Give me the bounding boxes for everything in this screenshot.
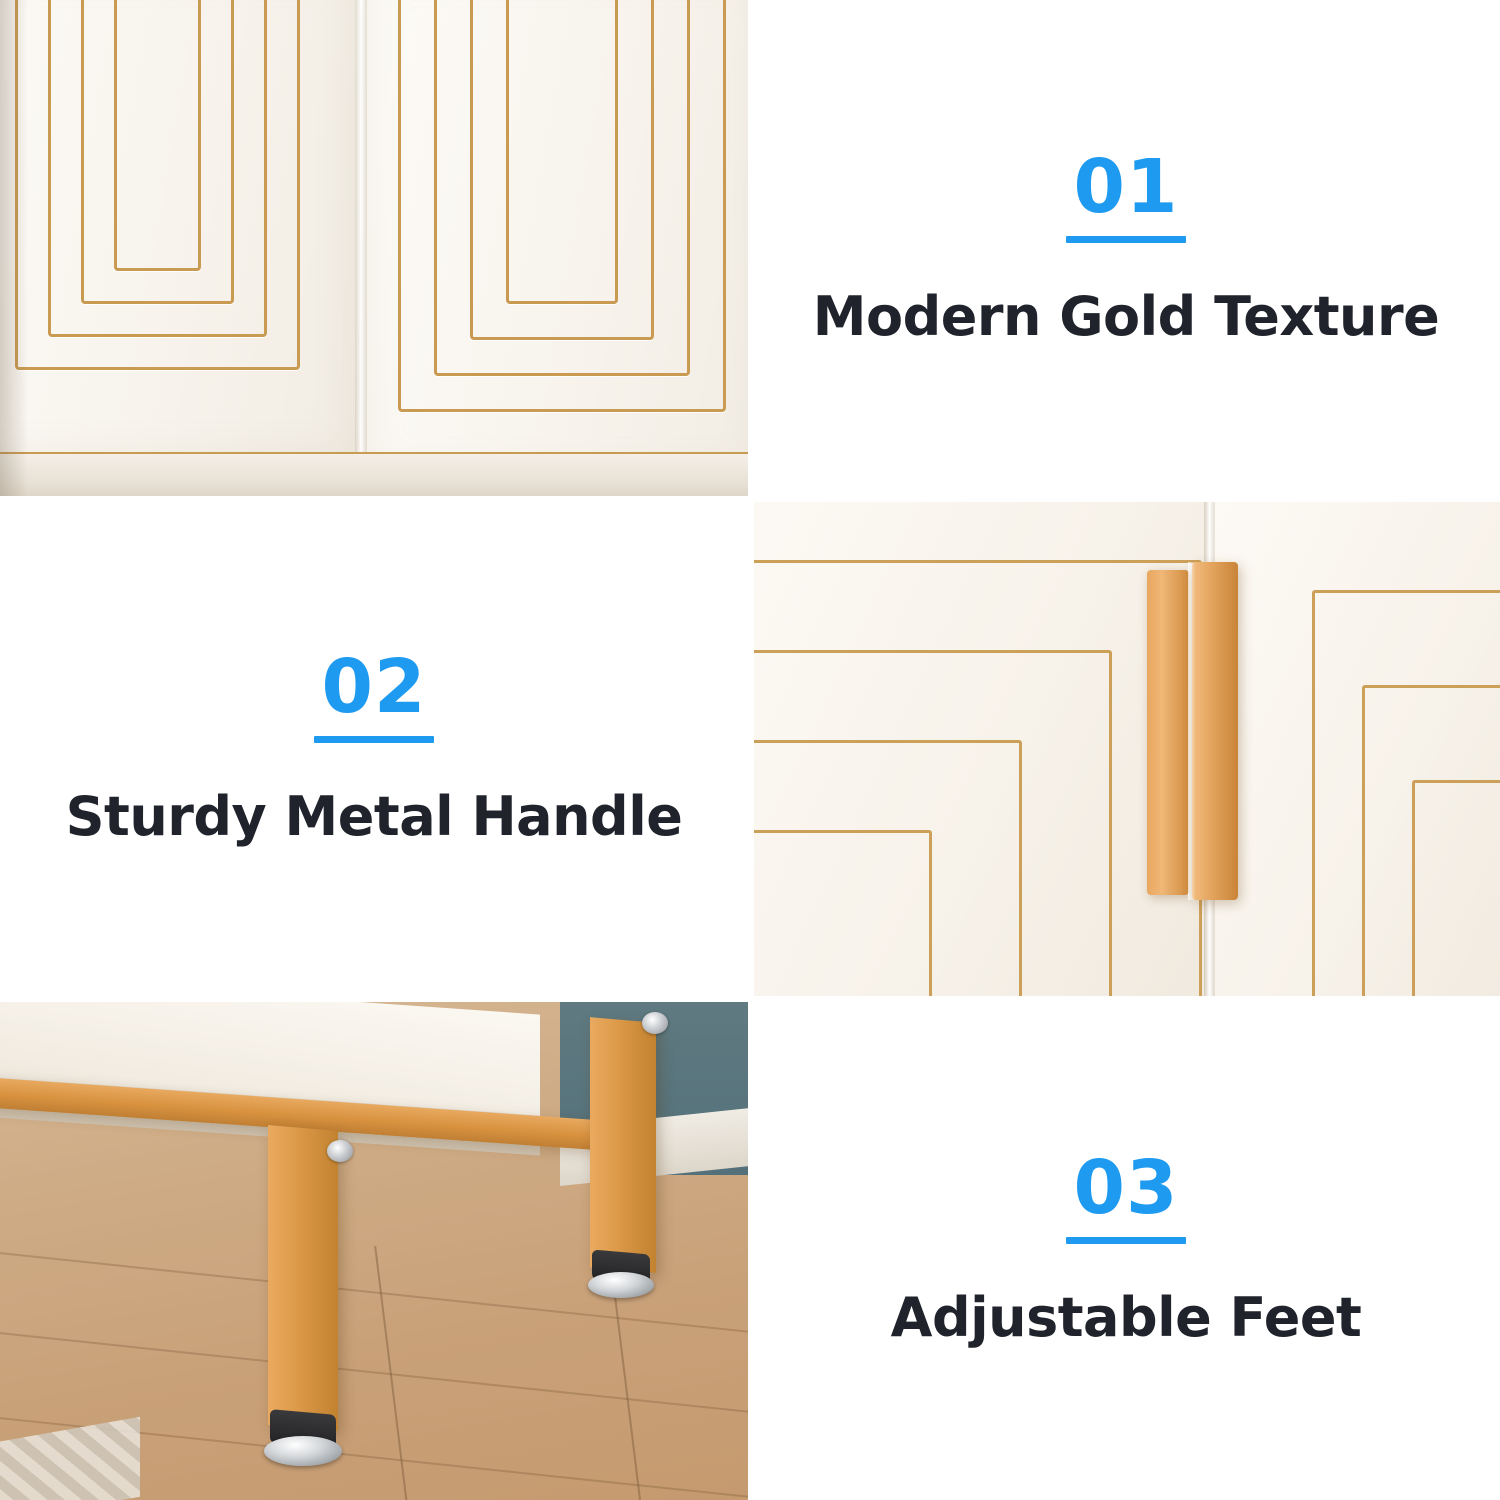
handle-highlight xyxy=(1188,562,1195,900)
gold-inlay-line xyxy=(752,830,932,998)
foot-glide-front xyxy=(264,1436,342,1466)
edge-shadow xyxy=(0,0,28,498)
adjustable-feet-photo xyxy=(0,1000,750,1500)
feature-panel-02: 02 Sturdy Metal Handle xyxy=(0,500,748,998)
feature-number-02: 02 xyxy=(322,650,427,724)
metal-handle-right xyxy=(1192,562,1238,900)
gold-metal-handle-photo xyxy=(752,500,1500,998)
feature-collage: 01 Modern Gold Texture 02 Sturdy Metal H… xyxy=(0,0,1500,1500)
feature-caption-03: Adjustable Feet xyxy=(891,1286,1362,1349)
grid-gutter-vertical xyxy=(748,0,754,1500)
grid-gutter-horizontal xyxy=(0,996,1500,1002)
cabinet-leg-back xyxy=(590,1017,656,1273)
grid-gutter-horizontal xyxy=(0,496,1500,502)
foot-glide-back xyxy=(588,1272,654,1298)
metal-handle-left xyxy=(1147,570,1189,895)
cabinet-leg-front xyxy=(268,1125,338,1431)
feature-caption-02: Sturdy Metal Handle xyxy=(66,785,683,848)
feature-panel-01: 01 Modern Gold Texture xyxy=(752,0,1500,498)
gold-inlay-line xyxy=(506,0,618,304)
cabinet-base-rail xyxy=(0,452,750,498)
screw-icon xyxy=(327,1140,353,1162)
gold-inlay-line xyxy=(1412,780,1500,998)
feature-panel-03: 03 Adjustable Feet xyxy=(752,1000,1500,1500)
feature-number-01: 01 xyxy=(1074,150,1179,224)
gold-inlay-line xyxy=(114,0,201,271)
door-seam xyxy=(355,0,367,490)
feature-caption-01: Modern Gold Texture xyxy=(813,285,1440,348)
feature-number-underline xyxy=(1066,236,1186,243)
cabinet-doors-gold-trim-photo xyxy=(0,0,750,498)
feature-number-underline xyxy=(1066,1237,1186,1244)
feature-number-underline xyxy=(314,736,434,743)
screw-icon xyxy=(642,1012,668,1034)
feature-number-03: 03 xyxy=(1074,1151,1179,1225)
